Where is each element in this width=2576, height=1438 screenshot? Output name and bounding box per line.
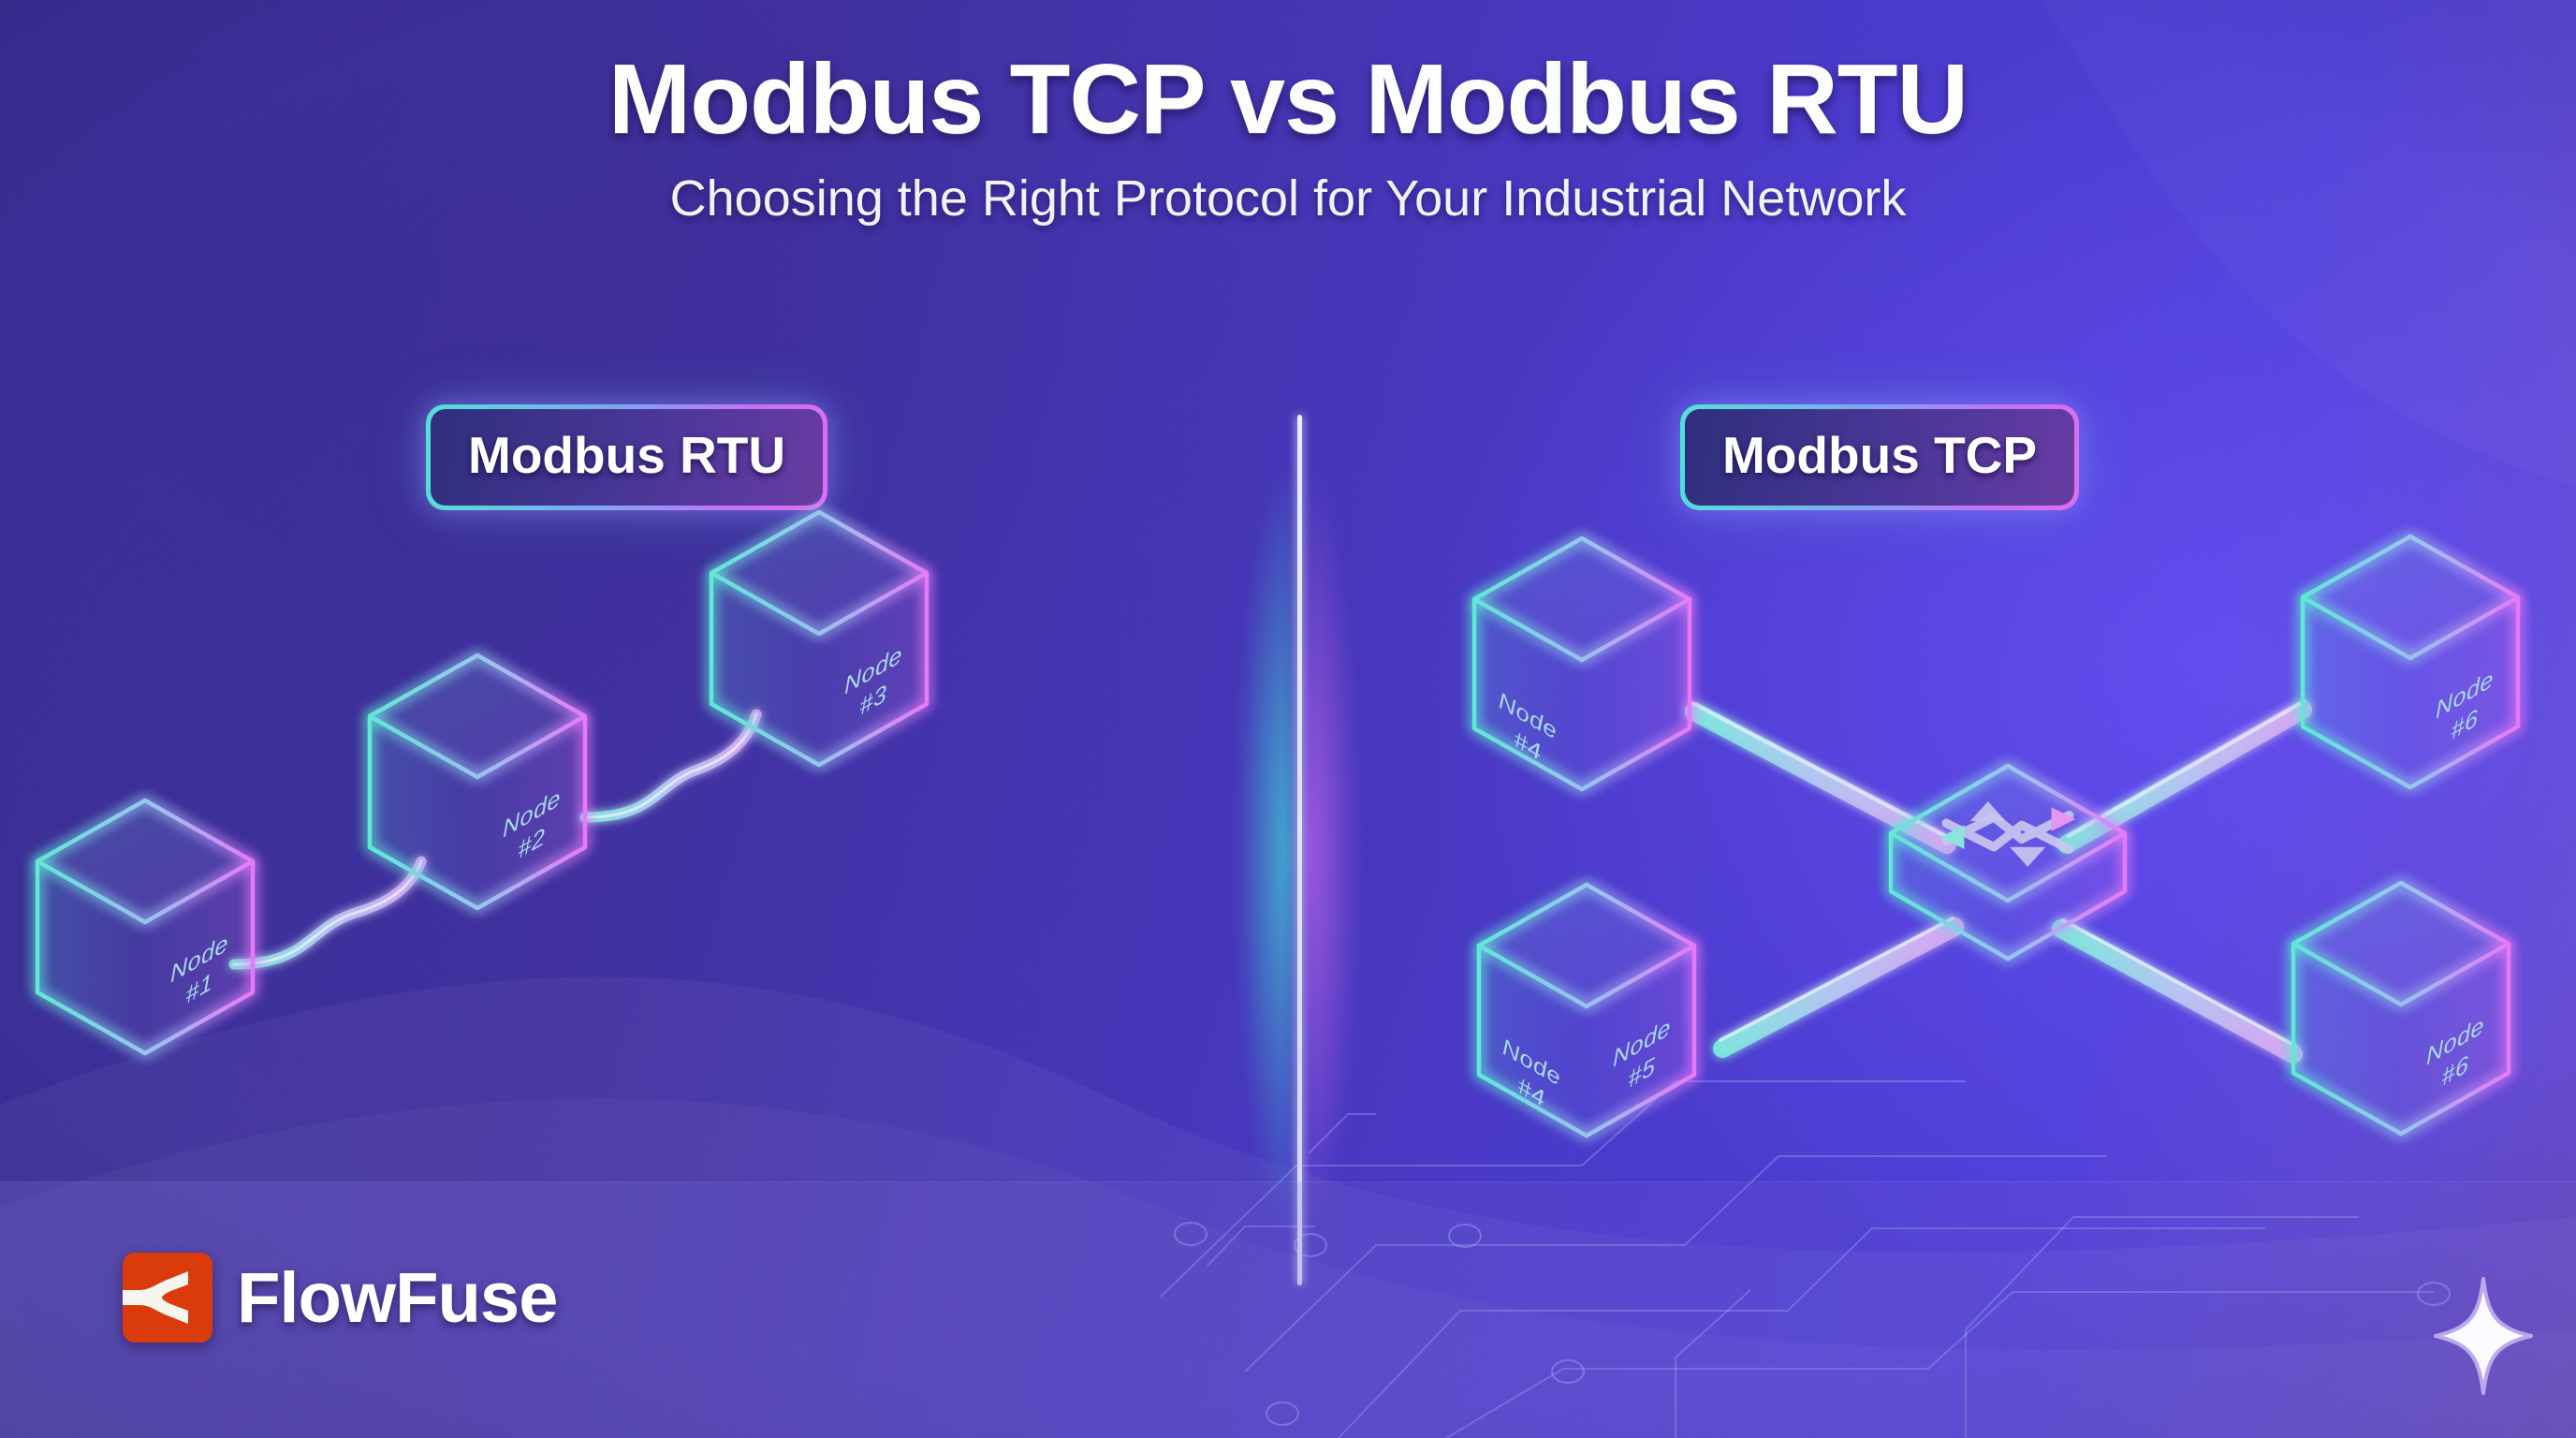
- page-title: Modbus TCP vs Modbus RTU: [0, 43, 2576, 156]
- flowfuse-logo[interactable]: FlowFuse: [123, 1253, 557, 1343]
- badge-modbus-rtu-label: Modbus RTU: [431, 409, 823, 506]
- tcp-diagram: Node #4 Node #6: [1423, 524, 2576, 1273]
- vertical-divider: [1295, 415, 1304, 1285]
- rtu-cable-1-2: [234, 861, 421, 964]
- page-subtitle: Choosing the Right Protocol for Your Ind…: [0, 169, 2576, 227]
- flowfuse-logo-icon: [123, 1253, 212, 1343]
- badge-modbus-tcp-label: Modbus TCP: [1685, 409, 2074, 506]
- poster-canvas: Modbus TCP vs Modbus RTU Choosing the Ri…: [0, 0, 2576, 1438]
- tcp-node-4-5-bottom[interactable]: Node #4 Node #5: [1479, 885, 1694, 1136]
- rtu-node-1[interactable]: Node #1: [37, 800, 253, 1053]
- tcp-node-4-top[interactable]: Node #4: [1474, 538, 1690, 789]
- divider-core-line: [1297, 415, 1302, 1285]
- sparkle-icon: [2432, 1275, 2535, 1397]
- badge-modbus-tcp[interactable]: Modbus TCP: [1680, 404, 2079, 510]
- flowfuse-brand-name: FlowFuse: [237, 1257, 557, 1339]
- rtu-cable-2-3: [585, 714, 756, 817]
- tcp-network-switch[interactable]: [1891, 766, 2125, 959]
- rtu-node-3[interactable]: Node #3: [711, 512, 927, 765]
- tcp-node-6-top[interactable]: Node #6: [2303, 536, 2518, 787]
- tcp-node-6-bottom[interactable]: Node #6: [2293, 883, 2509, 1134]
- rtu-node-2[interactable]: Node #2: [370, 655, 585, 908]
- badge-modbus-rtu[interactable]: Modbus RTU: [426, 404, 827, 510]
- header: Modbus TCP vs Modbus RTU Choosing the Ri…: [0, 43, 2576, 227]
- divider-magenta-glow: [1302, 466, 1360, 1234]
- rtu-diagram: Node #1 Node #2: [0, 524, 1292, 1273]
